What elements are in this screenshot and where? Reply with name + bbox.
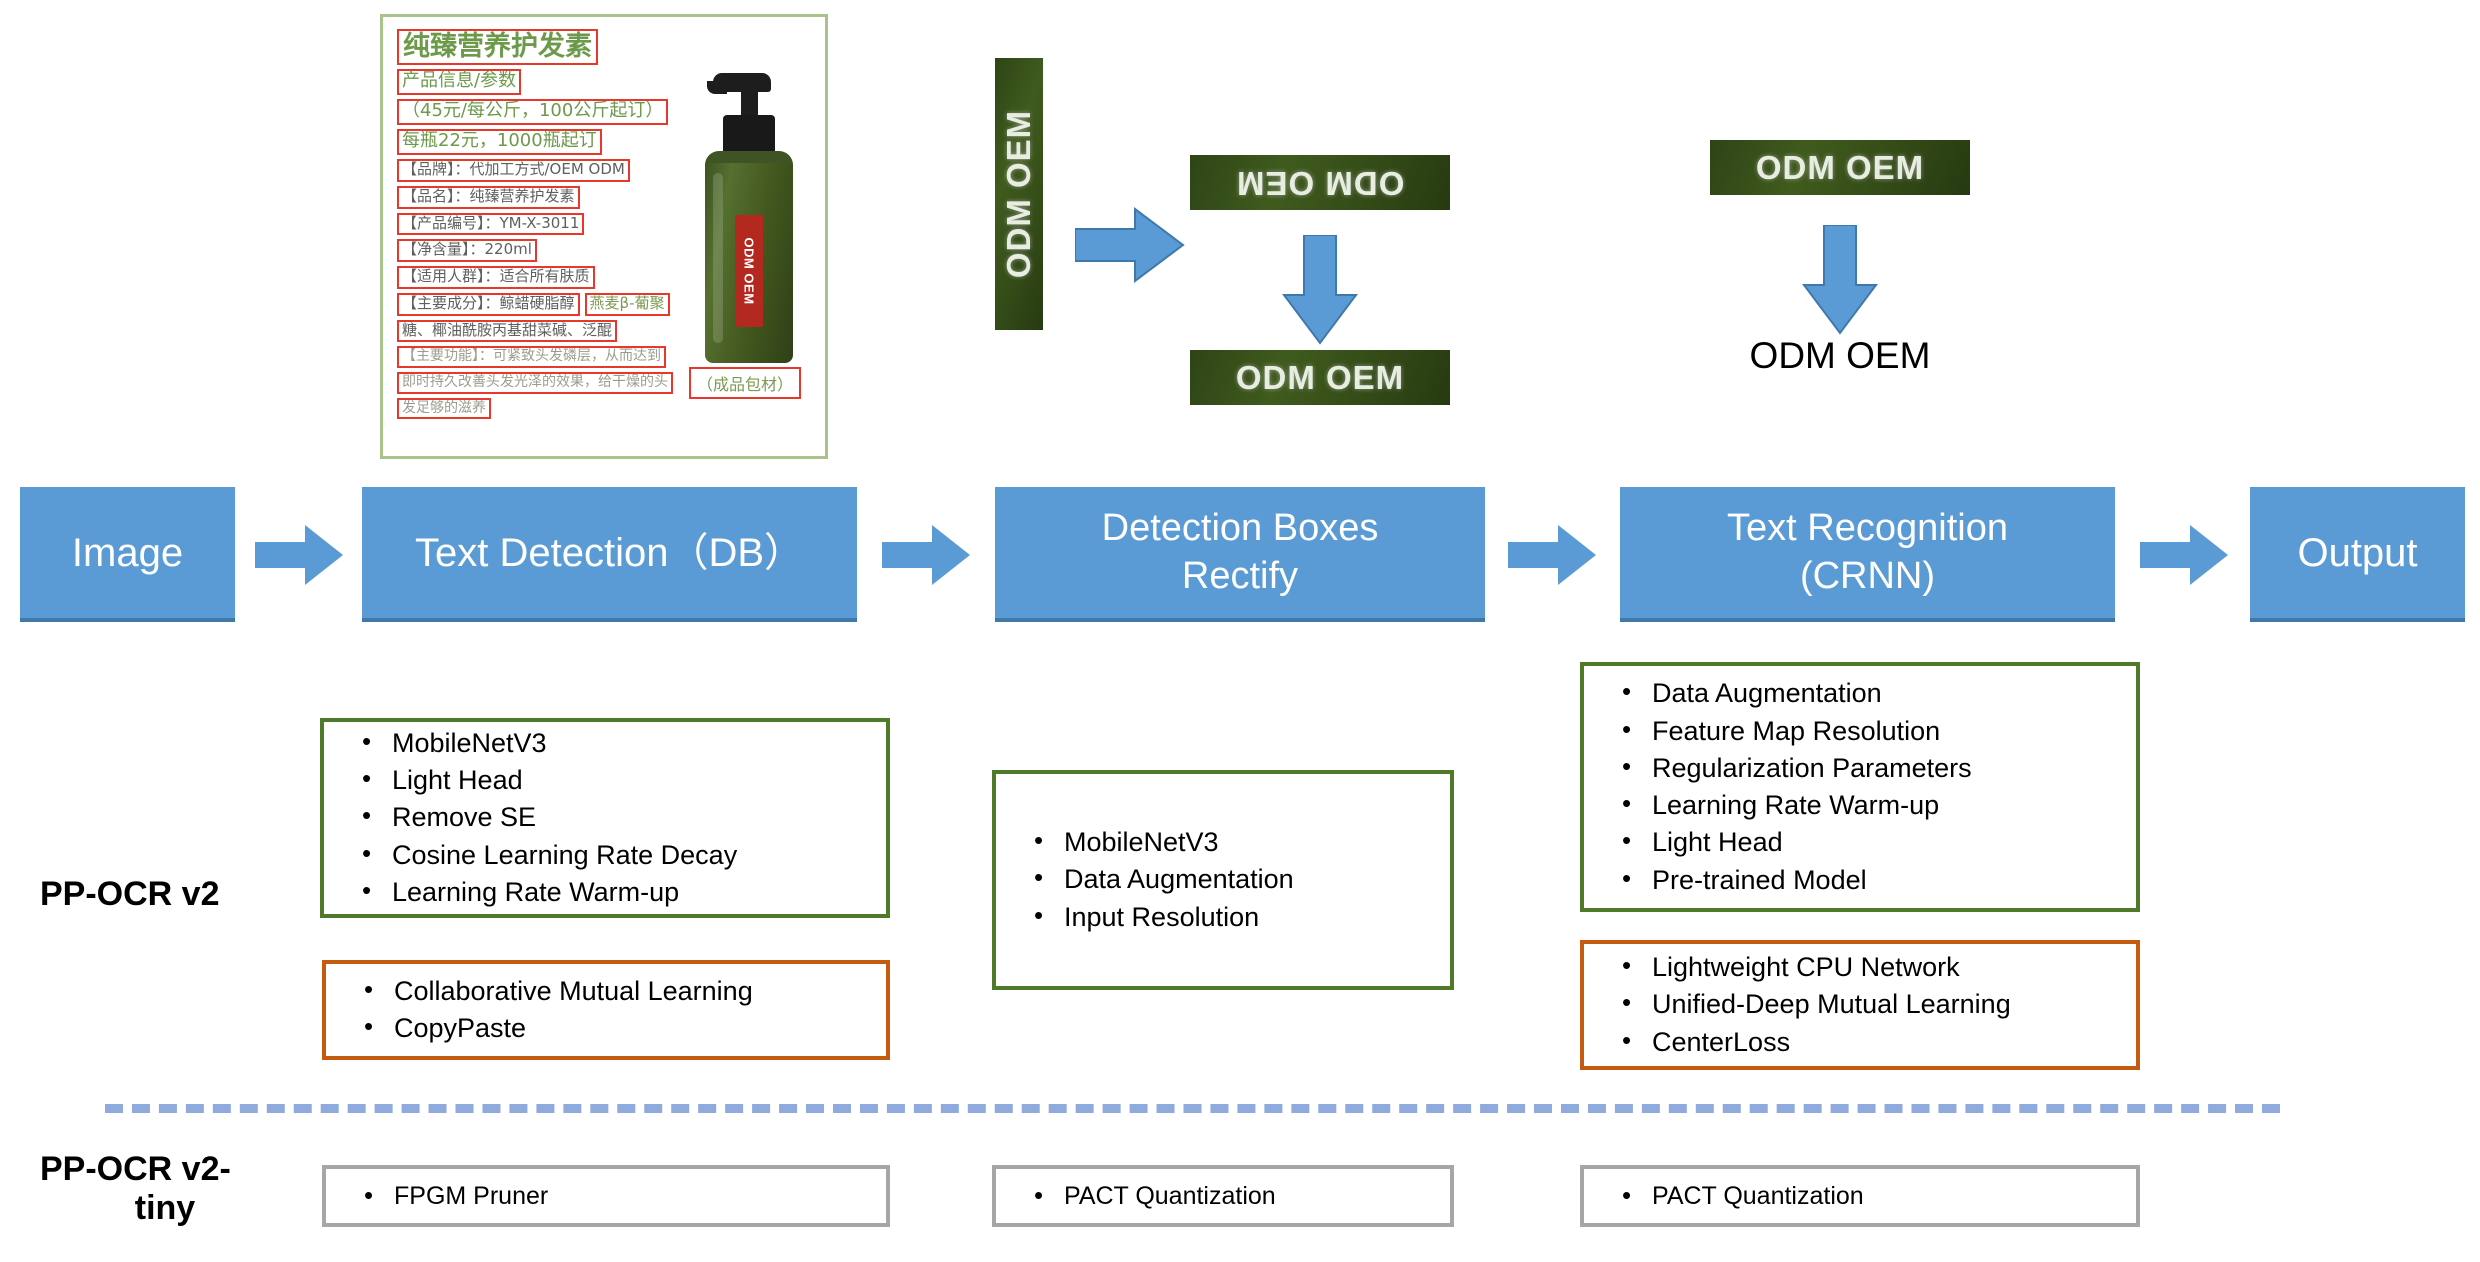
feature-item: Learning Rate Warm-up <box>358 874 876 911</box>
feature-list-detection-orange: Collaborative Mutual Learning CopyPaste <box>326 973 886 1048</box>
ocr-sample-card: 纯臻营养护发素 产品信息/参数 （45元/每公斤，100公斤起订） 每瓶22元，… <box>380 14 828 459</box>
feature-box-tiny-detection: FPGM Pruner <box>322 1165 890 1227</box>
feature-box-detection-orange: Collaborative Mutual Learning CopyPaste <box>322 960 890 1060</box>
pipeline-block-image-label: Image <box>72 528 183 578</box>
section-divider-dashed <box>105 1104 2280 1113</box>
pipeline-block-detection-boxes-rectify[interactable]: Detection Boxes Rectify <box>995 487 1485 622</box>
crop-flipped-odm-oem-text: ODM OEM <box>1236 164 1404 202</box>
row-label-ppocr-v2: PP-OCR v2 <box>40 875 310 914</box>
pipeline-block-rectify-label: Detection Boxes Rectify <box>1102 505 1379 600</box>
crop-corrected-odm-oem: ODM OEM <box>1190 350 1450 405</box>
feature-box-rectify-green: MobileNetV3 Data Augmentation Input Reso… <box>992 770 1454 990</box>
feature-item: Feature Map Resolution <box>1618 713 2126 750</box>
ocr-box-line: 【主要功能】：可紧致头发磷层，从而达到 <box>397 346 666 368</box>
ocr-box-title: 纯臻营养护发素 <box>397 29 598 65</box>
ocr-box-line: 即时持久改善头发光泽的效果，给干燥的头 <box>397 372 673 394</box>
pipeline-block-text-detection-label: Text Detection（DB） <box>415 528 804 578</box>
feature-item: Data Augmentation <box>1030 861 1440 898</box>
recognition-output-text: ODM OEM <box>1690 335 1990 377</box>
crop-recognition-input: ODM OEM <box>1710 140 1970 195</box>
feature-box-detection-green: MobileNetV3 Light Head Remove SE Cosine … <box>320 718 890 918</box>
recognition-label-line2: (CRNN) <box>1800 555 1935 597</box>
feature-item: Pre-trained Model <box>1618 862 2126 899</box>
ocr-detected-text-column: 纯臻营养护发素 产品信息/参数 （45元/每公斤，100公斤起订） 每瓶22元，… <box>397 29 679 423</box>
feature-item: Lightweight CPU Network <box>1618 949 2126 986</box>
feature-box-recognition-green: Data Augmentation Feature Map Resolution… <box>1580 662 2140 912</box>
ocr-box-line: 燕麦β-葡聚 <box>585 293 670 316</box>
ocr-box-line: 每瓶22元，1000瓶起订 <box>397 129 602 155</box>
feature-item: Cosine Learning Rate Decay <box>358 837 876 874</box>
ocr-box-line: 【适用人群】：适合所有肤质 <box>397 266 595 289</box>
feature-list-recognition-orange: Lightweight CPU Network Unified-Deep Mut… <box>1584 949 2136 1061</box>
arrow-detection-to-rectify <box>882 522 972 588</box>
bottle-brand-label: ODM OEM <box>735 215 763 327</box>
arrow-rectify-right <box>1075 205 1185 285</box>
feature-list-detection-green: MobileNetV3 Light Head Remove SE Cosine … <box>324 725 886 911</box>
arrow-recognition-to-output <box>2140 522 2230 588</box>
arrow-image-to-detection <box>255 522 345 588</box>
row-label-tiny-line1: PP-OCR v2- <box>40 1150 290 1189</box>
feature-item: PACT Quantization <box>1030 1179 1440 1214</box>
feature-item: MobileNetV3 <box>1030 824 1440 861</box>
feature-list-recognition-green: Data Augmentation Feature Map Resolution… <box>1584 675 2136 899</box>
feature-item: MobileNetV3 <box>358 725 876 762</box>
rectify-label-line2: Rectify <box>1182 555 1298 597</box>
crop-vertical-odm-oem-text: ODM OEM <box>1000 110 1038 278</box>
feature-box-tiny-recognition: PACT Quantization <box>1580 1165 2140 1227</box>
crop-recognition-input-text: ODM OEM <box>1756 149 1924 187</box>
ocr-box-line: （45元/每公斤，100公斤起订） <box>397 99 668 125</box>
feature-box-recognition-orange: Lightweight CPU Network Unified-Deep Mut… <box>1580 940 2140 1070</box>
feature-item: Light Head <box>1618 824 2126 861</box>
feature-item: CenterLoss <box>1618 1024 2126 1061</box>
bottle-collar <box>723 115 775 155</box>
feature-item: FPGM Pruner <box>360 1179 876 1214</box>
ocr-box-bottle-caption: （成品包材） <box>689 367 801 399</box>
feature-list-tiny-detection: FPGM Pruner <box>326 1179 886 1214</box>
pipeline-block-recognition-label: Text Recognition (CRNN) <box>1727 505 2008 600</box>
ocr-box-line: 【净含量】：220ml <box>397 239 537 262</box>
pipeline-block-output[interactable]: Output <box>2250 487 2465 622</box>
product-bottle-image: ODM OEM （成品包材） <box>683 63 813 393</box>
recognition-label-line1: Text Recognition <box>1727 507 2008 549</box>
bottle-highlight <box>713 173 723 343</box>
feature-item: Collaborative Mutual Learning <box>360 973 876 1010</box>
crop-vertical-odm-oem: ODM OEM <box>995 58 1043 330</box>
feature-item: PACT Quantization <box>1618 1179 2126 1214</box>
feature-list-tiny-rectify: PACT Quantization <box>996 1179 1450 1214</box>
rectify-label-line1: Detection Boxes <box>1102 507 1379 549</box>
diagram-canvas: 纯臻营养护发素 产品信息/参数 （45元/每公斤，100公斤起订） 每瓶22元，… <box>0 0 2480 1262</box>
row-label-ppocr-v2-tiny: PP-OCR v2- tiny <box>40 1150 290 1228</box>
arrow-rectify-to-recognition <box>1508 522 1598 588</box>
ocr-box-line: 发足够的滋养 <box>397 398 491 420</box>
feature-list-tiny-recognition: PACT Quantization <box>1584 1179 2136 1214</box>
ocr-box-line: 【品名】：纯臻营养护发素 <box>397 186 580 209</box>
pipeline-block-output-label: Output <box>2297 528 2417 578</box>
pipeline-block-image[interactable]: Image <box>20 487 235 622</box>
feature-item: Learning Rate Warm-up <box>1618 787 2126 824</box>
ocr-box-line: 糖、椰油酰胺丙基甜菜碱、泛醌 <box>397 320 617 343</box>
pipeline-block-text-detection[interactable]: Text Detection（DB） <box>362 487 857 622</box>
ocr-box-line: 【品牌】：代加工方式/OEM ODM <box>397 159 630 182</box>
ocr-box-line: 产品信息/参数 <box>397 69 521 95</box>
arrow-rectify-down <box>1280 235 1360 345</box>
pipeline-block-text-recognition[interactable]: Text Recognition (CRNN) <box>1620 487 2115 622</box>
crop-corrected-odm-oem-text: ODM OEM <box>1236 359 1404 397</box>
feature-item: Data Augmentation <box>1618 675 2126 712</box>
feature-item: Light Head <box>358 762 876 799</box>
ocr-box-line: 【产品编号】：YM-X-3011 <box>397 213 584 236</box>
row-label-tiny-line2: tiny <box>40 1189 290 1228</box>
bottle-brand-label-text: ODM OEM <box>742 237 757 304</box>
crop-flipped-odm-oem: ODM OEM <box>1190 155 1450 210</box>
feature-item: Remove SE <box>358 799 876 836</box>
ocr-box-line: 【主要成分】：鲸蜡硬脂醇 <box>397 293 580 316</box>
feature-item: Input Resolution <box>1030 899 1440 936</box>
feature-item: CopyPaste <box>360 1010 876 1047</box>
feature-item: Regularization Parameters <box>1618 750 2126 787</box>
feature-box-tiny-rectify: PACT Quantization <box>992 1165 1454 1227</box>
feature-list-rectify-green: MobileNetV3 Data Augmentation Input Reso… <box>996 824 1450 936</box>
feature-item: Unified-Deep Mutual Learning <box>1618 986 2126 1023</box>
arrow-recognize-down <box>1800 225 1880 335</box>
